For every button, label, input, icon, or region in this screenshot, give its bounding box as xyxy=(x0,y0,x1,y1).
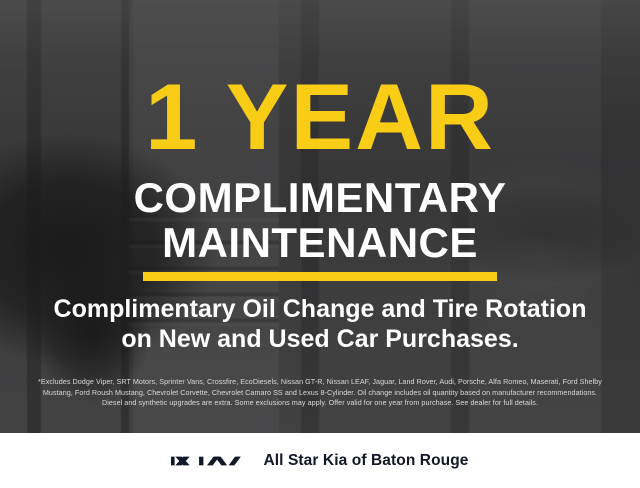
headline-maintenance: MAINTENANCE xyxy=(0,222,640,264)
disclaimer-line-2: Mustang, Ford Roush Mustang, Chevrolet C… xyxy=(18,388,622,399)
yellow-divider xyxy=(143,272,497,281)
disclaimer-line-1: *Excludes Dodge Viper, SRT Motors, Sprin… xyxy=(18,377,622,388)
dealer-name-label: All Star Kia of Baton Rouge xyxy=(263,452,468,470)
offer-description-line-1: Complimentary Oil Change and Tire Rotati… xyxy=(0,294,640,325)
kia-logo-icon xyxy=(171,452,243,470)
footer-brand-group: All Star Kia of Baton Rouge xyxy=(171,452,468,470)
dealer-footer: All Star Kia of Baton Rouge xyxy=(0,433,640,488)
promo-banner: 1 YEAR COMPLIMENTARY MAINTENANCE Complim… xyxy=(0,0,640,488)
disclaimer-text: *Excludes Dodge Viper, SRT Motors, Sprin… xyxy=(18,377,622,409)
banner-content: 1 YEAR COMPLIMENTARY MAINTENANCE Complim… xyxy=(0,0,640,488)
disclaimer-line-3: Diesel and synthetic upgrades are extra.… xyxy=(18,398,622,409)
headline-year: 1 YEAR xyxy=(0,70,640,164)
offer-description-line-2: on New and Used Car Purchases. xyxy=(0,324,640,355)
headline-complimentary: COMPLIMENTARY xyxy=(0,177,640,219)
